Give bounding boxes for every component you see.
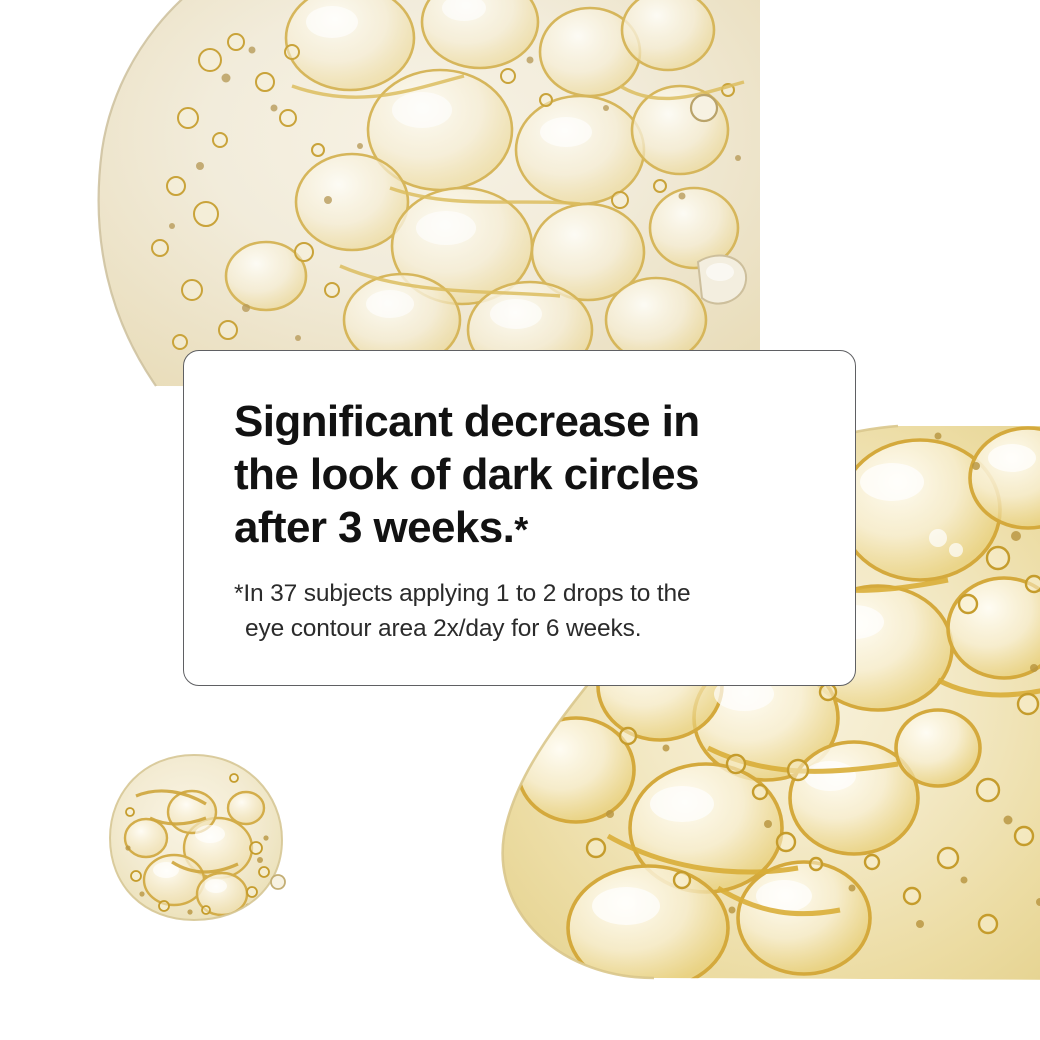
claim-card: Significant decrease in the look of dark…	[183, 350, 856, 686]
poster-canvas: Significant decrease in the look of dark…	[0, 0, 1040, 1040]
claim-footnote: *In 37 subjects applying 1 to 2 drops to…	[234, 576, 815, 646]
claim-headline-asterisk: *	[514, 509, 527, 550]
small-droplet	[106, 752, 286, 924]
claim-footnote-line-1: *In 37 subjects applying 1 to 2 drops to…	[234, 580, 690, 607]
claim-footnote-line-2: eye contour area 2x/day for 6 weeks.	[234, 611, 641, 646]
rim-droplet	[694, 248, 750, 310]
claim-headline-text: Significant decrease in the look of dark…	[234, 397, 699, 552]
claim-headline: Significant decrease in the look of dark…	[234, 395, 815, 556]
top-left-droplet	[60, 0, 760, 390]
satellite-bubble	[688, 92, 720, 124]
